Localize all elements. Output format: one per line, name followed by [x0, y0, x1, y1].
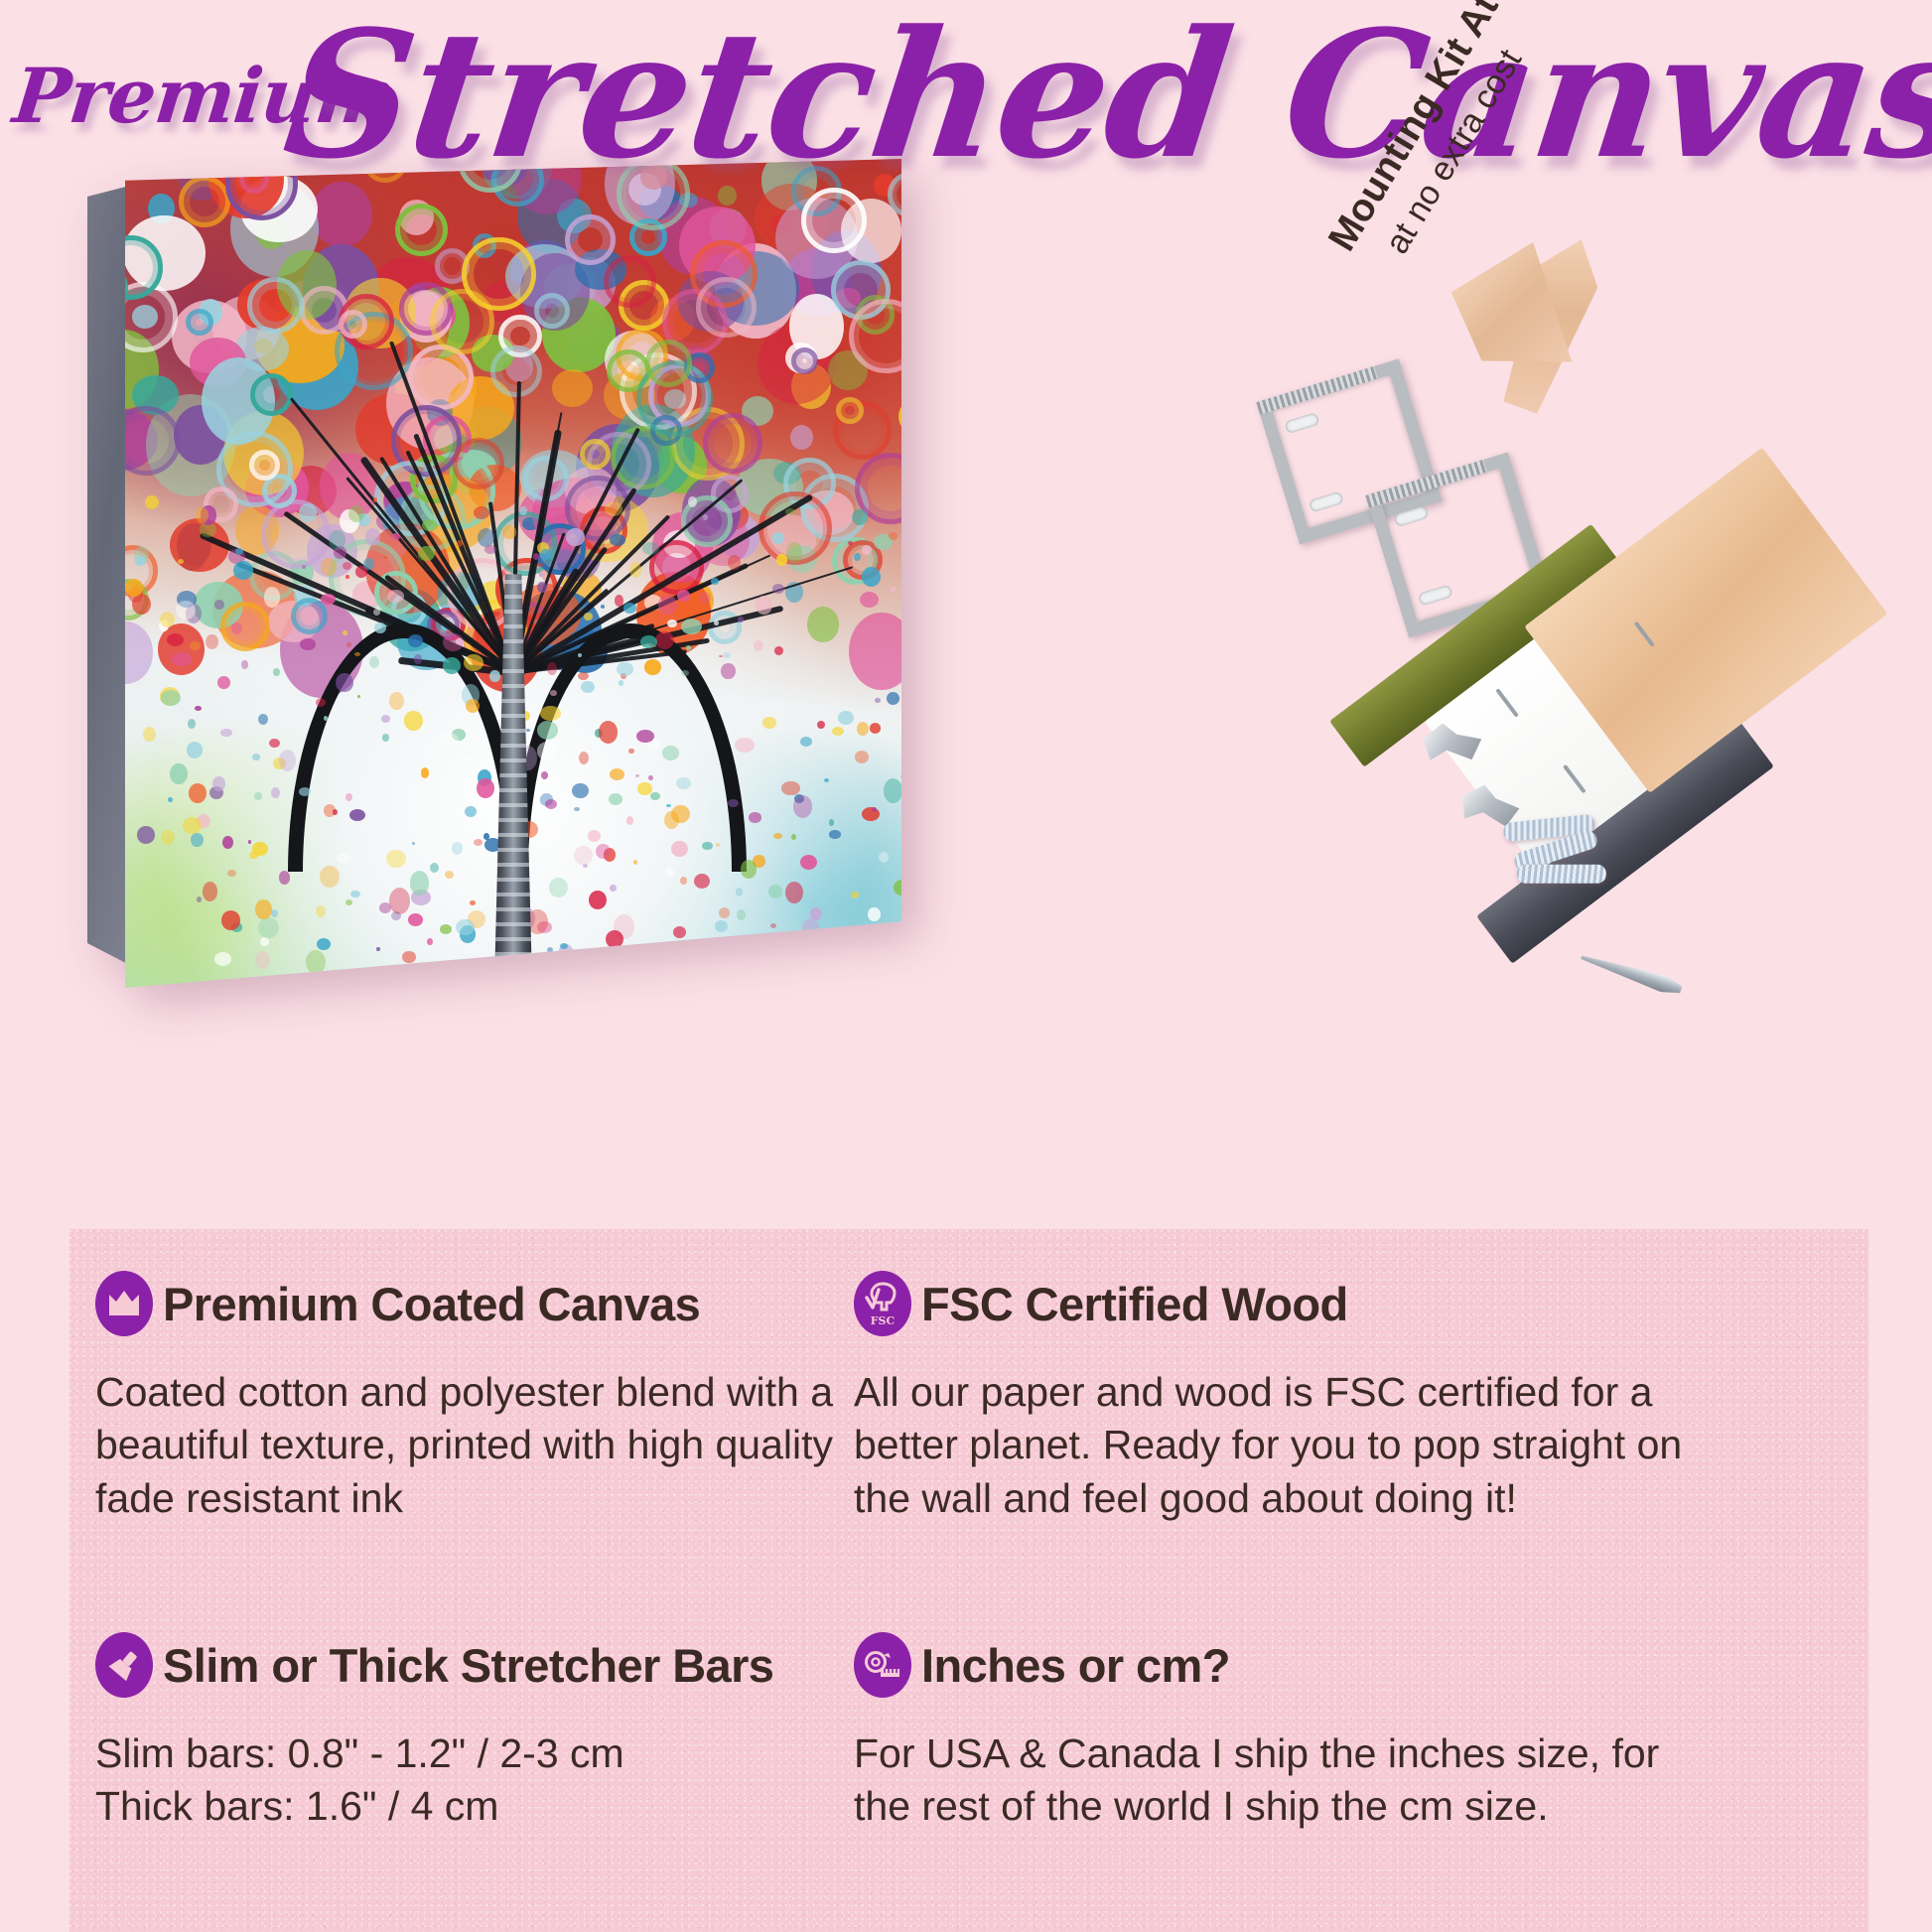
- tape-measure-icon: [854, 1632, 911, 1698]
- page-header: Premium Stretched Canvas: [0, 0, 1932, 199]
- svg-text:FSC: FSC: [871, 1314, 896, 1327]
- feature-body: Coated cotton and polyester blend with a…: [95, 1366, 850, 1525]
- page-title: Stretched Canvas: [275, 0, 1932, 198]
- feature-inches-or-cm: Inches or cm? For USA & Canada I ship th…: [854, 1632, 1688, 1834]
- crown-icon: [95, 1271, 153, 1336]
- feature-title: FSC Certified Wood: [921, 1277, 1348, 1331]
- mounting-kit-photo: [1221, 228, 1932, 1181]
- fsc-tree-icon: FSC: [854, 1271, 911, 1336]
- canvas-product-photo: [87, 159, 901, 988]
- paintbrush-icon: [95, 1632, 153, 1698]
- feature-panel: Premium Coated Canvas Coated cotton and …: [69, 1229, 1868, 1932]
- feature-title: Inches or cm?: [921, 1638, 1230, 1693]
- feature-premium-coated-canvas: Premium Coated Canvas Coated cotton and …: [95, 1271, 850, 1525]
- feature-body: Slim bars: 0.8" - 1.2" / 2-3 cm Thick ba…: [95, 1727, 880, 1834]
- feature-fsc-certified-wood: FSC FSC Certified Wood All our paper and…: [854, 1271, 1688, 1525]
- feature-title: Slim or Thick Stretcher Bars: [163, 1638, 773, 1693]
- feature-title: Premium Coated Canvas: [163, 1277, 700, 1331]
- feature-body: All our paper and wood is FSC certified …: [854, 1366, 1688, 1525]
- canvas-front-face: [125, 159, 901, 988]
- feature-body: For USA & Canada I ship the inches size,…: [854, 1727, 1688, 1834]
- feature-stretcher-bars: Slim or Thick Stretcher Bars Slim bars: …: [95, 1632, 880, 1834]
